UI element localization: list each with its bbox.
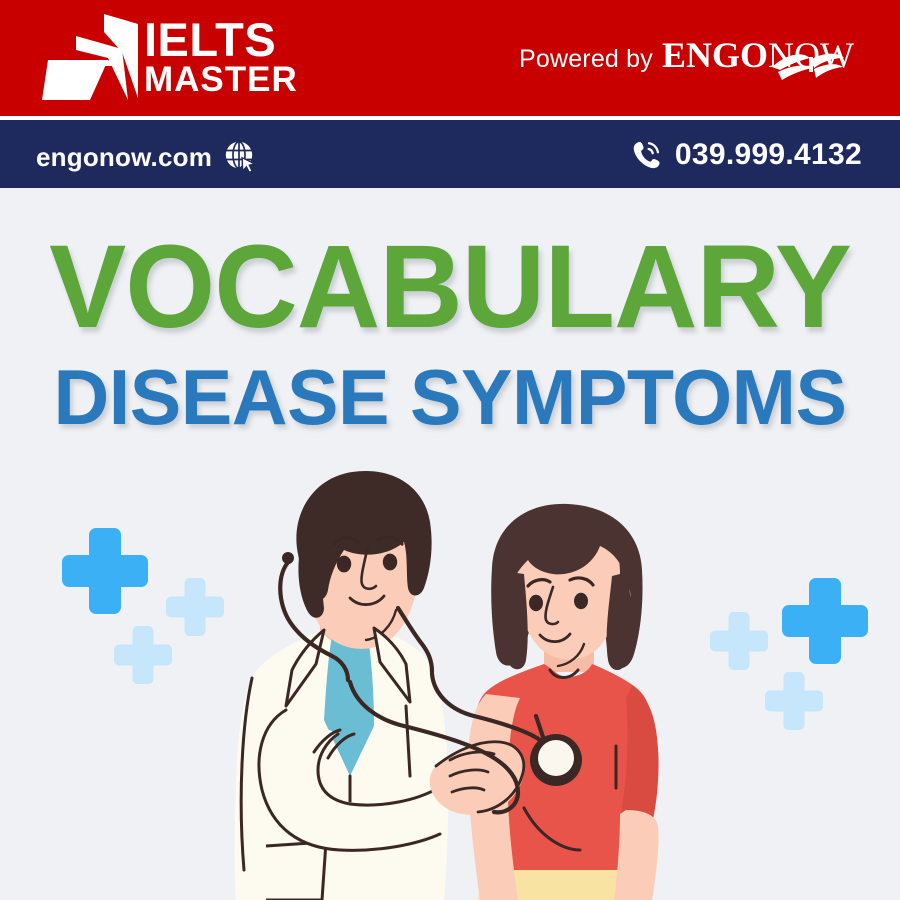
poster-canvas: IELTS MASTER Powered by ENGO NOW engonow… <box>0 0 900 900</box>
logo-line-ielts: IELTS <box>144 18 298 63</box>
website-label: engonow.com <box>36 142 212 173</box>
logo-wordmark: IELTS MASTER <box>144 18 298 96</box>
logo-line-master: MASTER <box>144 63 298 96</box>
medical-cross-icon <box>114 626 172 684</box>
page-title: VOCABULARY <box>9 228 891 346</box>
medical-cross-icon <box>765 672 823 730</box>
ielts-master-logo[interactable]: IELTS MASTER <box>36 10 298 104</box>
medical-cross-icon <box>710 612 768 670</box>
open-book-swoosh-icon <box>766 48 846 90</box>
illustration-svg <box>228 458 684 900</box>
patient-eye-left <box>529 595 543 611</box>
doctor-patient-illustration <box>228 458 684 900</box>
engonow-bold-part: ENGO <box>662 34 768 76</box>
page-subtitle: DISEASE SYMPTOMS <box>5 358 896 436</box>
doctor-sideburn <box>298 550 324 618</box>
website-link[interactable]: engonow.com <box>36 140 258 174</box>
medical-cross-icon <box>782 578 868 664</box>
powered-by-engonow[interactable]: Powered by ENGO NOW <box>519 34 854 76</box>
medical-cross-icon <box>166 578 224 636</box>
patient-eye-right <box>574 593 588 609</box>
doctor-eye-right <box>383 554 397 571</box>
phone-ring-icon <box>629 138 663 172</box>
globe-cursor-icon <box>224 140 258 174</box>
phone-number: 039.999.4132 <box>675 138 862 172</box>
phone-contact[interactable]: 039.999.4132 <box>629 138 862 172</box>
stethoscope-chestpiece-face <box>538 740 574 776</box>
stethoscope-earpiece-left <box>282 552 294 564</box>
doctor-eye-left <box>337 556 351 573</box>
stacked-folders-logo-mark <box>36 10 142 104</box>
patient-arm-right <box>614 810 659 900</box>
powered-by-label: Powered by <box>519 45 653 74</box>
medical-cross-icon <box>62 528 148 614</box>
